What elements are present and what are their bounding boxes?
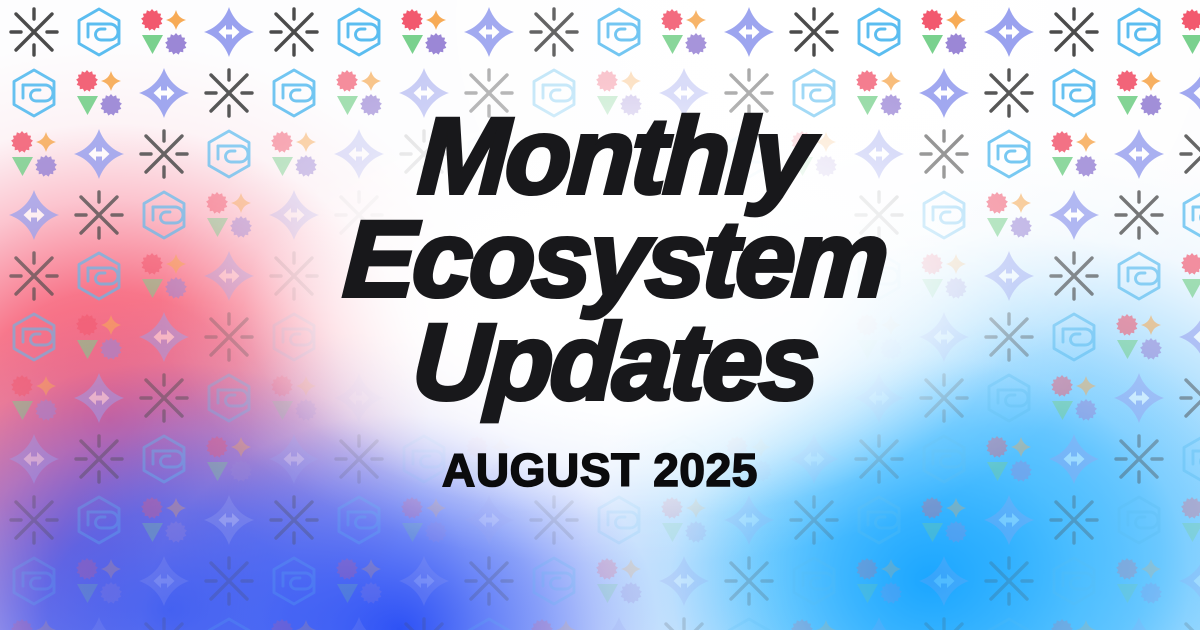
title-line-1: Monthly <box>342 104 889 207</box>
page-title: Monthly Ecosystem Updates <box>314 104 886 413</box>
title-line-3: Updates <box>342 310 889 413</box>
title-line-2: Ecosystem <box>342 207 889 310</box>
wordmark: Monthly Ecosystem Updates AUGUST 2025 <box>0 0 1200 630</box>
banner: Monthly Ecosystem Updates AUGUST 2025 <box>0 0 1200 630</box>
subtitle-date: AUGUST 2025 <box>442 443 758 497</box>
